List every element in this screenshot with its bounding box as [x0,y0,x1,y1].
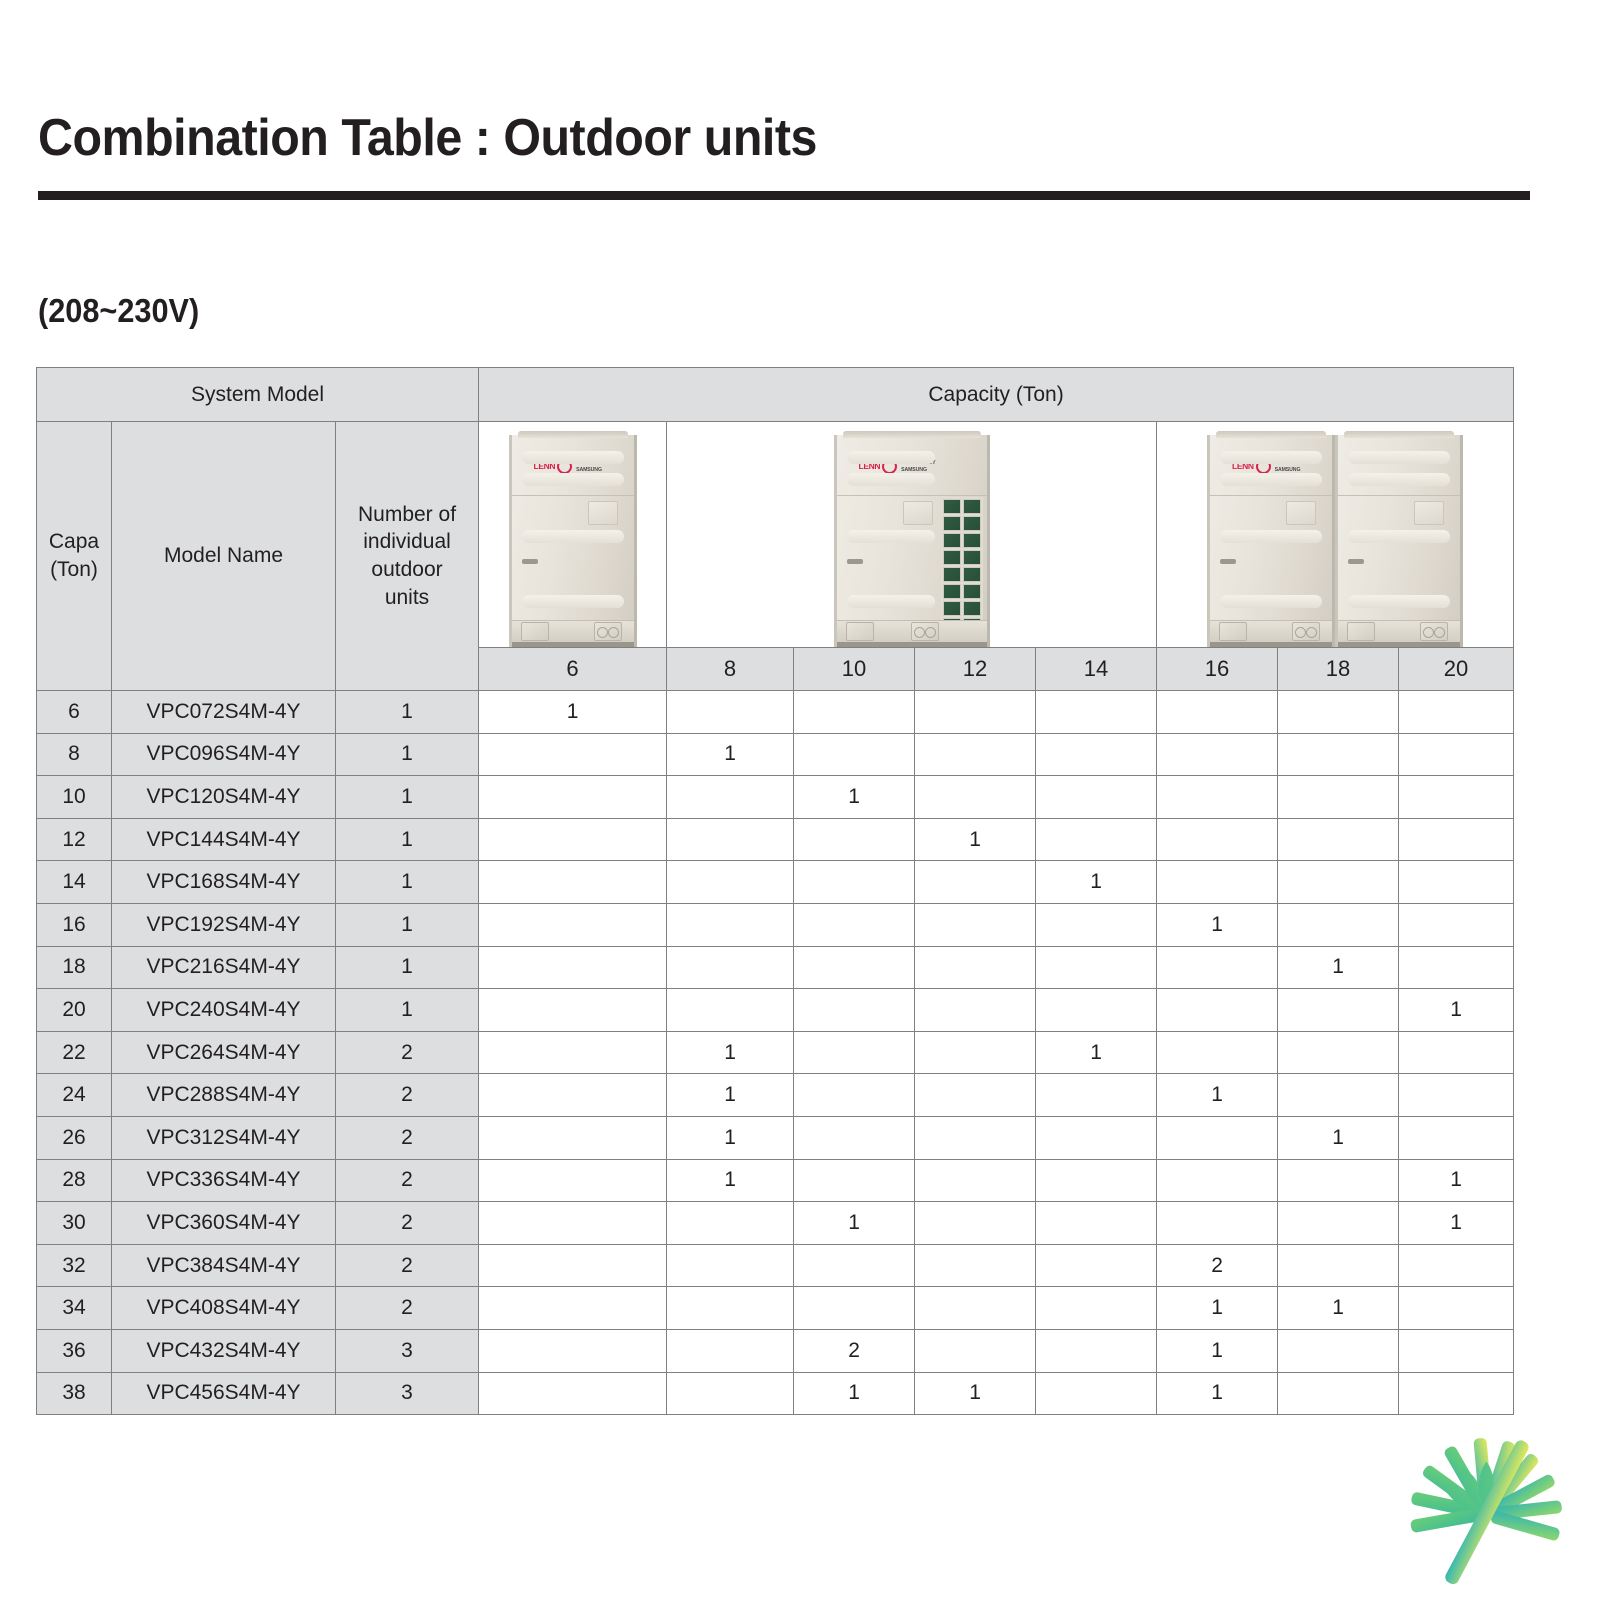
capacity-cell [915,1244,1036,1287]
capacity-cell: 1 [794,776,915,819]
capacity-cell [794,946,915,989]
capacity-cell [1157,946,1278,989]
capacity-cell [479,1202,667,1245]
row-capa-ton: 24 [37,1074,112,1117]
capacity-cell [1157,818,1278,861]
capacity-cell [1278,1244,1399,1287]
capacity-cell [1278,1202,1399,1245]
row-model-name: VPC456S4M-4Y [112,1372,336,1415]
row-model-name: VPC120S4M-4Y [112,776,336,819]
unit-image-twin-pair: LENN POWERED BYSAMSUNG [1157,422,1514,648]
capacity-cell: 1 [479,691,667,734]
row-number-of-units: 2 [336,1074,479,1117]
capacity-cell [479,733,667,776]
capacity-cell [667,1372,794,1415]
capacity-cell [1399,818,1514,861]
capacity-cell [1399,1329,1514,1372]
capacity-cell: 1 [1157,903,1278,946]
capacity-cell [915,1116,1036,1159]
table-row: 22VPC264S4M-4Y211 [37,1031,1514,1074]
capacity-cell [1399,903,1514,946]
row-model-name: VPC312S4M-4Y [112,1116,336,1159]
table-row: 24VPC288S4M-4Y211 [37,1074,1514,1117]
outdoor-unit-icon [1335,435,1463,647]
capacity-col-8: 8 [667,648,794,691]
capacity-cell [667,776,794,819]
capacity-col-10: 10 [794,648,915,691]
combination-table-wrap: System Model Capacity (Ton) Capa (Ton) M… [36,367,1513,1415]
capacity-cell [915,733,1036,776]
capacity-cell [915,691,1036,734]
capacity-cell [915,1159,1036,1202]
capacity-cell: 1 [1399,1159,1514,1202]
capacity-cell [667,818,794,861]
row-capa-ton: 26 [37,1116,112,1159]
header-capa-ton-line1: Capa [37,528,111,556]
capacity-cell [667,1244,794,1287]
capacity-cell: 1 [667,1159,794,1202]
row-capa-ton: 30 [37,1202,112,1245]
row-model-name: VPC216S4M-4Y [112,946,336,989]
capacity-cell [479,989,667,1032]
capacity-cell [1036,1287,1157,1330]
capacity-cell [1399,776,1514,819]
table-row: 6VPC072S4M-4Y11 [37,691,1514,734]
capacity-cell [915,861,1036,904]
capacity-cell [1036,691,1157,734]
capacity-cell: 1 [667,1074,794,1117]
capacity-cell [667,989,794,1032]
capacity-cell [794,903,915,946]
capacity-cell: 1 [794,1202,915,1245]
capacity-cell [794,818,915,861]
capacity-cell [479,776,667,819]
capacity-cell [1157,776,1278,819]
capacity-cell [667,1329,794,1372]
row-capa-ton: 20 [37,989,112,1032]
capacity-cell [1157,733,1278,776]
capacity-cell: 1 [667,733,794,776]
capacity-col-6: 6 [479,648,667,691]
capacity-cell: 1 [1157,1074,1278,1117]
capacity-cell: 1 [1157,1372,1278,1415]
capacity-cell [1278,776,1399,819]
capacity-cell [1399,1116,1514,1159]
capacity-cell [1036,1116,1157,1159]
header-capa-ton-line2: (Ton) [37,556,111,584]
row-model-name: VPC384S4M-4Y [112,1244,336,1287]
capacity-cell [1036,946,1157,989]
row-capa-ton: 28 [37,1159,112,1202]
header-system-model: System Model [37,368,479,422]
capacity-cell [794,733,915,776]
header-capacity-ton: Capacity (Ton) [479,368,1514,422]
capacity-cell [1399,733,1514,776]
row-model-name: VPC360S4M-4Y [112,1202,336,1245]
capacity-cell: 1 [667,1116,794,1159]
row-number-of-units: 1 [336,776,479,819]
capacity-cell [915,989,1036,1032]
row-number-of-units: 1 [336,733,479,776]
row-capa-ton: 8 [37,733,112,776]
capacity-cell [1399,1074,1514,1117]
row-number-of-units: 1 [336,989,479,1032]
row-number-of-units: 2 [336,1202,479,1245]
unit-image-single-6ton: LENN POWERED BYSAMSUNG [479,422,667,648]
capacity-cell: 1 [1157,1329,1278,1372]
capacity-cell [479,818,667,861]
capacity-cell [479,1329,667,1372]
capacity-cell [1157,1159,1278,1202]
capacity-cell [915,946,1036,989]
row-number-of-units: 2 [336,1287,479,1330]
capacity-cell [1036,1074,1157,1117]
table-row: 20VPC240S4M-4Y11 [37,989,1514,1032]
row-model-name: VPC144S4M-4Y [112,818,336,861]
capacity-cell [1157,1116,1278,1159]
row-model-name: VPC240S4M-4Y [112,989,336,1032]
header-number-of-units: Number of individual outdoor units [336,422,479,691]
row-number-of-units: 1 [336,818,479,861]
capacity-cell [479,861,667,904]
table-row: 30VPC360S4M-4Y211 [37,1202,1514,1245]
capacity-cell [915,1287,1036,1330]
capacity-cell [1278,1329,1399,1372]
capacity-col-16: 16 [1157,648,1278,691]
capacity-cell: 1 [1036,861,1157,904]
capacity-cell [1157,691,1278,734]
outdoor-unit-coil-icon: LENN POWERED BYSAMSUNG [834,435,990,647]
capacity-cell [479,1031,667,1074]
capacity-cell [1036,1329,1157,1372]
capacity-cell [667,861,794,904]
header-units-line2: individual [336,528,478,556]
capacity-cell [915,1329,1036,1372]
capacity-cell [1036,1202,1157,1245]
table-row: 16VPC192S4M-4Y11 [37,903,1514,946]
capacity-cell [915,776,1036,819]
row-number-of-units: 1 [336,946,479,989]
capacity-cell: 1 [1157,1287,1278,1330]
row-model-name: VPC336S4M-4Y [112,1159,336,1202]
row-capa-ton: 34 [37,1287,112,1330]
table-subheader-image-row: Capa (Ton) Model Name Number of individu… [37,422,1514,648]
table-row: 28VPC336S4M-4Y211 [37,1159,1514,1202]
row-model-name: VPC168S4M-4Y [112,861,336,904]
capacity-cell [1036,776,1157,819]
row-capa-ton: 22 [37,1031,112,1074]
row-capa-ton: 36 [37,1329,112,1372]
row-capa-ton: 14 [37,861,112,904]
capacity-col-20: 20 [1399,648,1514,691]
capacity-cell [1157,1202,1278,1245]
row-number-of-units: 1 [336,903,479,946]
capacity-cell: 1 [1399,989,1514,1032]
capacity-cell: 1 [915,1372,1036,1415]
header-units-line4: units [336,584,478,612]
row-number-of-units: 2 [336,1159,479,1202]
capacity-cell [1036,1244,1157,1287]
document-page: Combination Table : Outdoor units (208~2… [0,0,1600,1600]
row-capa-ton: 32 [37,1244,112,1287]
capacity-col-12: 12 [915,648,1036,691]
row-model-name: VPC432S4M-4Y [112,1329,336,1372]
row-capa-ton: 38 [37,1372,112,1415]
capacity-cell: 1 [915,818,1036,861]
capacity-cell [1278,691,1399,734]
voltage-subtitle: (208~230V) [38,292,199,330]
capacity-cell [479,1116,667,1159]
title-divider [38,191,1530,200]
header-model-name: Model Name [112,422,336,691]
capacity-cell [1036,989,1157,1032]
capacity-cell [1157,1031,1278,1074]
capacity-cell [794,1287,915,1330]
capacity-cell [667,903,794,946]
capacity-cell [1278,818,1399,861]
capacity-cell [794,861,915,904]
capacity-cell [915,1202,1036,1245]
capacity-cell [479,1372,667,1415]
capacity-cell [1278,1074,1399,1117]
table-row: 14VPC168S4M-4Y11 [37,861,1514,904]
capacity-cell [1278,861,1399,904]
table-group-header-row: System Model Capacity (Ton) [37,368,1514,422]
row-number-of-units: 2 [336,1031,479,1074]
combination-table: System Model Capacity (Ton) Capa (Ton) M… [36,367,1514,1415]
capacity-cell [479,946,667,989]
capacity-cell [667,946,794,989]
capacity-cell [1399,946,1514,989]
capacity-cell [915,1074,1036,1117]
capacity-cell [794,691,915,734]
capacity-cell [1278,733,1399,776]
table-row: 34VPC408S4M-4Y211 [37,1287,1514,1330]
capacity-cell [667,1287,794,1330]
capacity-cell [1036,733,1157,776]
capacity-cell: 1 [1278,1287,1399,1330]
capacity-cell: 2 [794,1329,915,1372]
capacity-cell [915,903,1036,946]
table-row: 36VPC432S4M-4Y321 [37,1329,1514,1372]
table-row: 32VPC384S4M-4Y22 [37,1244,1514,1287]
capacity-cell [794,1031,915,1074]
capacity-cell [1278,1159,1399,1202]
capacity-cell [1036,818,1157,861]
table-row: 26VPC312S4M-4Y211 [37,1116,1514,1159]
capacity-cell [667,1202,794,1245]
capacity-cell [794,1074,915,1117]
capacity-cell [479,1074,667,1117]
capacity-cell: 1 [1278,946,1399,989]
capacity-cell: 1 [667,1031,794,1074]
capacity-cell [479,1159,667,1202]
row-number-of-units: 3 [336,1372,479,1415]
table-row: 12VPC144S4M-4Y11 [37,818,1514,861]
outdoor-unit-icon: LENN POWERED BYSAMSUNG [509,435,637,647]
capacity-cell [1399,1244,1514,1287]
capacity-cell: 1 [1399,1202,1514,1245]
outdoor-unit-twin-icon: LENN POWERED BYSAMSUNG [1207,435,1463,647]
capacity-cell [794,1159,915,1202]
row-model-name: VPC096S4M-4Y [112,733,336,776]
radial-burst-logo [1400,1428,1570,1588]
capacity-cell [1036,1159,1157,1202]
row-model-name: VPC072S4M-4Y [112,691,336,734]
table-row: 38VPC456S4M-4Y3111 [37,1372,1514,1415]
table-row: 18VPC216S4M-4Y11 [37,946,1514,989]
row-capa-ton: 10 [37,776,112,819]
row-capa-ton: 6 [37,691,112,734]
capacity-cell [479,903,667,946]
capacity-cell [1278,1372,1399,1415]
row-model-name: VPC288S4M-4Y [112,1074,336,1117]
capacity-cell: 2 [1157,1244,1278,1287]
capacity-cell [794,1116,915,1159]
capacity-col-14: 14 [1036,648,1157,691]
capacity-cell [1036,903,1157,946]
capacity-cell: 1 [794,1372,915,1415]
capacity-cell [1399,1372,1514,1415]
table-body: 6VPC072S4M-4Y118VPC096S4M-4Y1110VPC120S4… [37,691,1514,1415]
heat-exchanger-coil-icon [941,497,983,635]
capacity-cell [667,691,794,734]
row-model-name: VPC192S4M-4Y [112,903,336,946]
row-number-of-units: 2 [336,1244,479,1287]
capacity-cell [479,1287,667,1330]
capacity-col-18: 18 [1278,648,1399,691]
capacity-cell: 1 [1278,1116,1399,1159]
row-number-of-units: 1 [336,691,479,734]
capacity-cell [1399,1031,1514,1074]
unit-image-single-coil: LENN POWERED BYSAMSUNG [667,422,1157,648]
header-units-line3: outdoor [336,556,478,584]
capacity-cell [1157,861,1278,904]
capacity-cell [1036,1372,1157,1415]
row-capa-ton: 12 [37,818,112,861]
capacity-cell [1157,989,1278,1032]
table-row: 10VPC120S4M-4Y11 [37,776,1514,819]
capacity-cell [794,1244,915,1287]
outdoor-unit-icon: LENN POWERED BYSAMSUNG [1207,435,1335,647]
capacity-cell [915,1031,1036,1074]
row-number-of-units: 3 [336,1329,479,1372]
table-row: 8VPC096S4M-4Y11 [37,733,1514,776]
capacity-cell [1278,1031,1399,1074]
row-capa-ton: 18 [37,946,112,989]
page-title: Combination Table : Outdoor units [38,108,817,168]
row-capa-ton: 16 [37,903,112,946]
header-capa-ton: Capa (Ton) [37,422,112,691]
capacity-cell [1399,1287,1514,1330]
row-model-name: VPC264S4M-4Y [112,1031,336,1074]
capacity-cell [1399,861,1514,904]
row-number-of-units: 2 [336,1116,479,1159]
capacity-cell [479,1244,667,1287]
capacity-cell: 1 [1036,1031,1157,1074]
row-model-name: VPC408S4M-4Y [112,1287,336,1330]
capacity-cell [794,989,915,1032]
capacity-cell [1278,903,1399,946]
row-number-of-units: 1 [336,861,479,904]
capacity-cell [1399,691,1514,734]
header-units-line1: Number of [336,501,478,529]
capacity-cell [1278,989,1399,1032]
